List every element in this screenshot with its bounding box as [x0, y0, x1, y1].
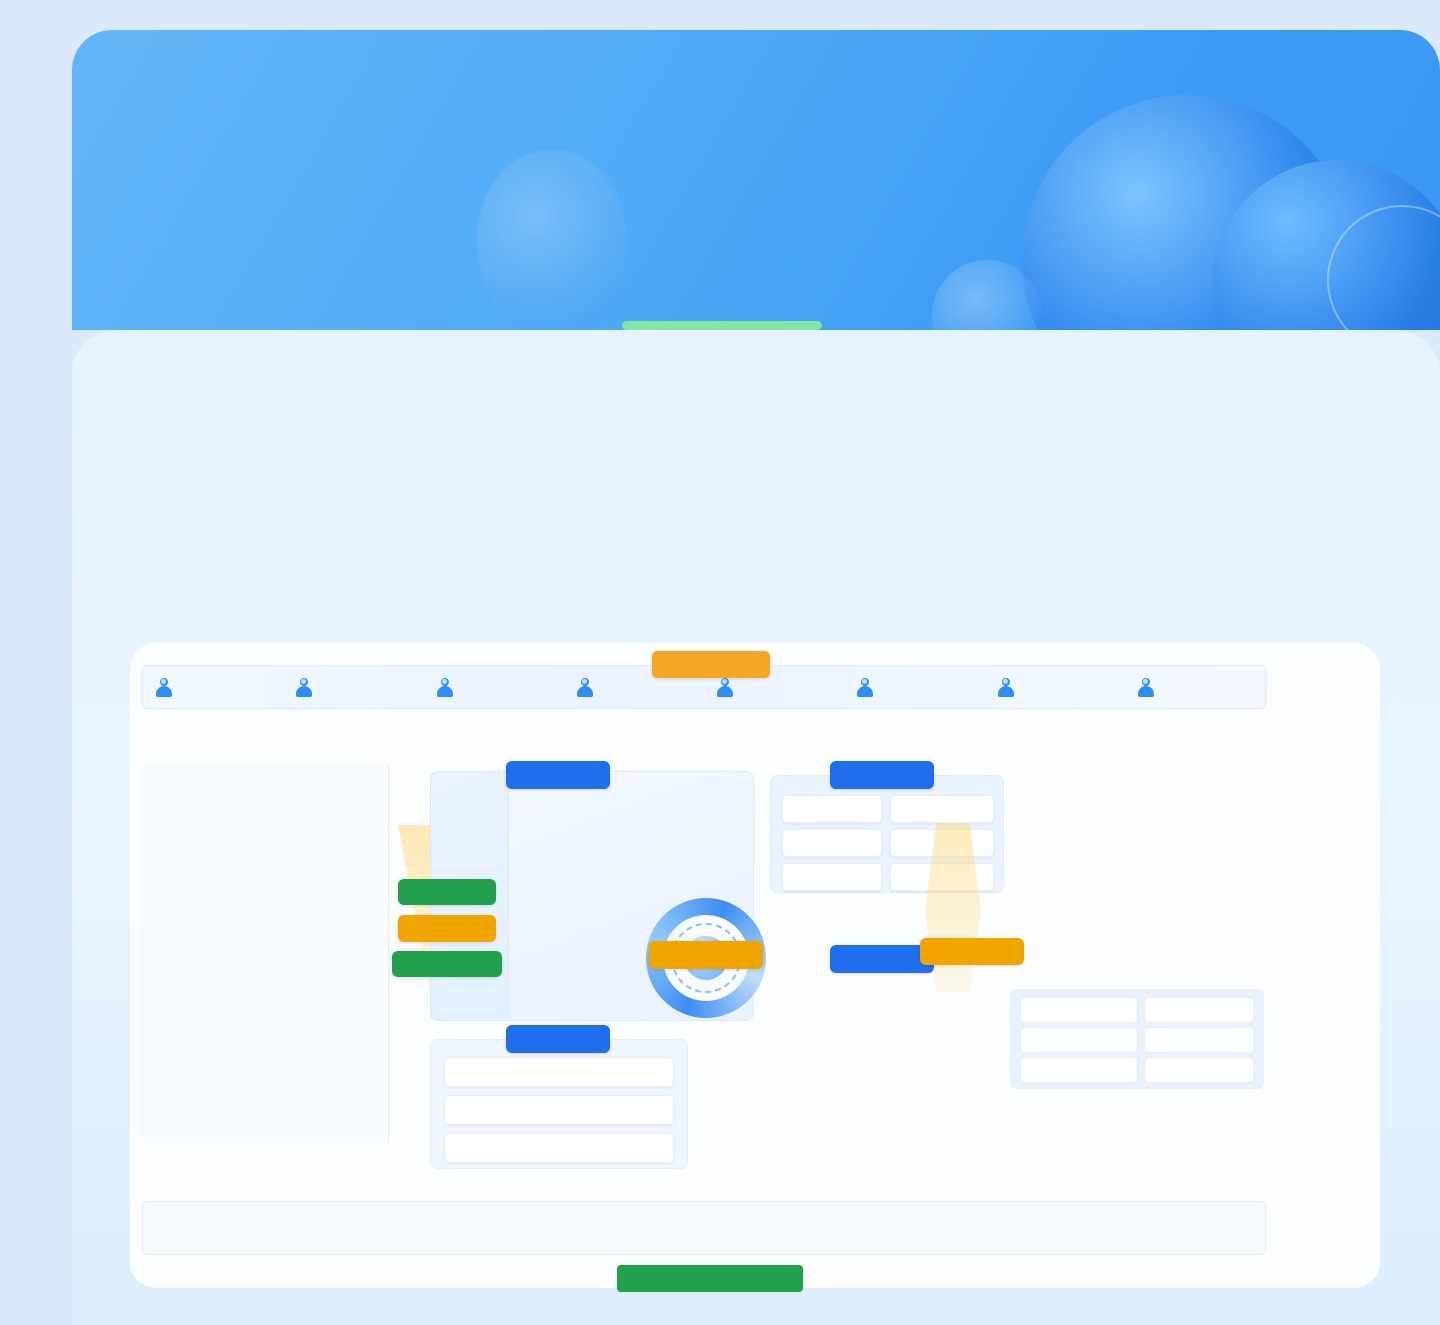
persona-item[interactable]: [704, 678, 844, 697]
badge-super-volume: [398, 879, 496, 905]
badge-policy-governance: [830, 761, 934, 789]
persona-item[interactable]: [985, 678, 1125, 697]
badge-metric-governance: [506, 1025, 610, 1053]
user-icon: [997, 678, 1015, 697]
persona-item[interactable]: [424, 678, 564, 697]
policy-item[interactable]: [782, 863, 882, 891]
persona-item[interactable]: [844, 678, 984, 697]
policy-item[interactable]: [782, 795, 882, 823]
decorative-bubble-small: [477, 150, 627, 330]
policy-item[interactable]: [782, 829, 882, 857]
badge-full-governance: [649, 941, 763, 969]
page-root: [0, 0, 1440, 1325]
content-card: [72, 330, 1440, 1325]
hero-banner: [72, 30, 1440, 330]
stack-divider: [388, 765, 389, 1143]
persona-item[interactable]: [1125, 678, 1265, 697]
badge-full-fusion: [920, 938, 1024, 965]
metric-practice-item[interactable]: [444, 1095, 674, 1125]
persona-item[interactable]: [283, 678, 423, 697]
badge-super-integration: [617, 1265, 803, 1292]
persona-item[interactable]: [564, 678, 704, 697]
capability-item[interactable]: [1020, 1027, 1138, 1053]
badge-full-stack-scene: [652, 651, 770, 678]
badge-object-governance: [506, 761, 610, 789]
metric-practice-item[interactable]: [444, 1133, 674, 1163]
user-icon: [1137, 678, 1155, 697]
user-icon: [295, 678, 313, 697]
badge-alert-governance: [830, 945, 934, 973]
user-icon: [436, 678, 454, 697]
accent-divider: [622, 321, 822, 330]
capability-item[interactable]: [1144, 1027, 1254, 1053]
capability-item[interactable]: [1144, 1057, 1254, 1083]
user-icon: [576, 678, 594, 697]
technology-stack-panel: [142, 765, 384, 1143]
persona-item[interactable]: [143, 678, 283, 697]
architecture-diagram: [130, 643, 1380, 1288]
page-title: [72, 30, 1440, 108]
persona-arrow-row: [142, 713, 1266, 761]
capability-item[interactable]: [1020, 997, 1138, 1023]
user-icon: [155, 678, 173, 697]
capability-item[interactable]: [1144, 997, 1254, 1023]
platform-arrow-row: [142, 1163, 1266, 1203]
user-icon: [716, 678, 734, 697]
metric-practice-item[interactable]: [444, 1057, 674, 1087]
user-icon: [856, 678, 874, 697]
capability-item[interactable]: [1020, 1057, 1138, 1083]
badge-full-collect: [398, 915, 496, 942]
badge-one-agent: [392, 951, 502, 977]
platform-bar: [142, 1201, 1266, 1255]
